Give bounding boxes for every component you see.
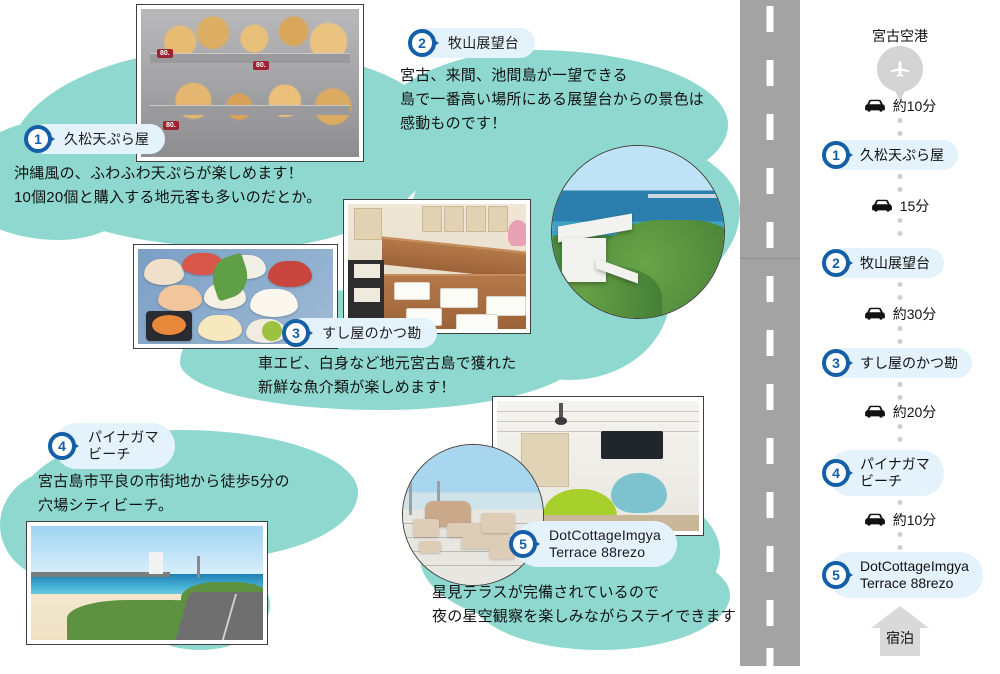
timeline-leg-duration-2: 15分 (900, 196, 930, 216)
spot-badge-4: 4 (48, 431, 82, 461)
spot-label-2[interactable]: 2 牧山展望台 (414, 28, 535, 58)
timeline-dots-6 (898, 382, 903, 400)
timeline-stop-1[interactable]: 1 久松天ぷら屋 (828, 140, 958, 170)
spot-label-text-3: すし屋のかつ勘 (322, 325, 421, 342)
spot-label-text-5: DotCottageImgya Terrace 88rezo (549, 527, 661, 561)
photo-beach (26, 521, 268, 645)
car-icon (871, 199, 893, 213)
timeline-stop-number-1: 1 (822, 141, 850, 169)
spot-label-1[interactable]: 1 久松天ぷら屋 (30, 124, 165, 154)
timeline-leg-5: 約10分 (800, 510, 1000, 530)
timeline-dots-2 (898, 174, 903, 192)
spot-badge-1: 1 (24, 124, 58, 154)
timeline-start-title: 宮古空港 (800, 26, 1000, 46)
timeline-stop-label-5: DotCottageImgya Terrace 88rezo (860, 558, 969, 592)
timeline-badge-1: 1 (822, 140, 856, 170)
timeline-badge-3: 3 (822, 348, 856, 378)
spot-number-5: 5 (509, 530, 537, 558)
timeline-dots-7 (898, 424, 903, 442)
timeline-dots-9 (898, 532, 903, 550)
timeline-stop-number-2: 2 (822, 249, 850, 277)
spot-number-1: 1 (24, 125, 52, 153)
spot-badge-3: 3 (282, 318, 316, 348)
spot-label-4[interactable]: 4 パイナガマ ビーチ (54, 423, 175, 469)
spot-label-text-4: パイナガマ ビーチ (88, 429, 159, 463)
timeline-stop-label-4: パイナガマ ビーチ (860, 456, 930, 490)
spot-description-3: 車エビ、白身など地元宮古島で獲れた 新鮮な魚介類が楽しめます！ (258, 352, 516, 400)
road-seam (740, 258, 800, 259)
photo-tempura: 80. 80. 80. (136, 4, 364, 162)
timeline-stop-label-1: 久松天ぷら屋 (860, 147, 944, 164)
photo-lookout (551, 145, 725, 319)
spot-description-1: 沖縄風の、ふわふわ天ぷらが楽しめます！ 10個20個と購入する地元客も多いのだと… (14, 162, 321, 210)
timeline-stop-number-5: 5 (822, 561, 850, 589)
timeline-dots-3 (898, 218, 903, 236)
spot-description-2: 宮古、来間、池間島が一望できる 島で一番高い場所にある展望台からの景色は 感動も… (400, 64, 704, 136)
timeline-badge-2: 2 (822, 248, 856, 278)
timeline-leg-duration-3: 約30分 (893, 304, 937, 324)
timeline-stop-4[interactable]: 4 パイナガマ ビーチ (828, 450, 944, 496)
spot-label-text-1: 久松天ぷら屋 (64, 131, 149, 148)
timeline-stop-5[interactable]: 5 DotCottageImgya Terrace 88rezo (828, 552, 983, 598)
timeline-dots-1 (898, 118, 903, 136)
car-icon (864, 99, 886, 113)
timeline-end-label: 宿泊 (871, 628, 929, 648)
timeline-stop-label-3: すし屋のかつ勘 (860, 355, 958, 372)
timeline-dots-4 (898, 282, 903, 300)
timeline-leg-4: 約20分 (800, 402, 1000, 422)
car-icon (864, 307, 886, 321)
timeline-badge-5: 5 (822, 560, 856, 590)
timeline-leg-duration-4: 約20分 (893, 402, 937, 422)
spot-badge-2: 2 (408, 28, 442, 58)
infographic-canvas: 80. 80. 80. (0, 0, 1000, 666)
timeline-leg-1: 約10分 (800, 96, 1000, 116)
timeline-leg-3: 約30分 (800, 304, 1000, 324)
timeline-badge-4: 4 (822, 458, 856, 488)
photo-terrace (402, 444, 544, 586)
timeline-dots-5 (898, 326, 903, 344)
route-timeline: 宮古空港 約10分 1 久松天ぷら屋 (800, 0, 1000, 666)
spot-description-4: 宮古島市平良の市街地から徒歩5分の 穴場シティビーチ。 (38, 470, 290, 518)
spot-label-3[interactable]: 3 すし屋のかつ勘 (288, 318, 437, 348)
timeline-stop-3[interactable]: 3 すし屋のかつ勘 (828, 348, 972, 378)
spot-number-2: 2 (408, 29, 436, 57)
spot-badge-5: 5 (509, 529, 543, 559)
house-icon: 宿泊 (871, 606, 929, 656)
timeline-stop-number-4: 4 (822, 459, 850, 487)
car-icon (864, 513, 886, 527)
timeline-leg-duration-1: 約10分 (893, 96, 937, 116)
car-icon (864, 405, 886, 419)
airplane-pin-icon (877, 46, 923, 102)
timeline-leg-2: 15分 (800, 196, 1000, 216)
photo-restaurant-interior (343, 199, 531, 334)
road-divider (740, 0, 800, 666)
timeline-stop-number-3: 3 (822, 349, 850, 377)
spot-label-5[interactable]: 5 DotCottageImgya Terrace 88rezo (515, 521, 677, 567)
timeline-stop-label-2: 牧山展望台 (860, 255, 930, 272)
spot-description-5: 星見テラスが完備されているので 夜の星空観察を楽しみながらステイできます (432, 581, 736, 629)
spot-number-3: 3 (282, 319, 310, 347)
timeline-stop-2[interactable]: 2 牧山展望台 (828, 248, 944, 278)
spot-label-text-2: 牧山展望台 (448, 35, 519, 52)
spot-number-4: 4 (48, 432, 76, 460)
timeline-leg-duration-5: 約10分 (893, 510, 937, 530)
